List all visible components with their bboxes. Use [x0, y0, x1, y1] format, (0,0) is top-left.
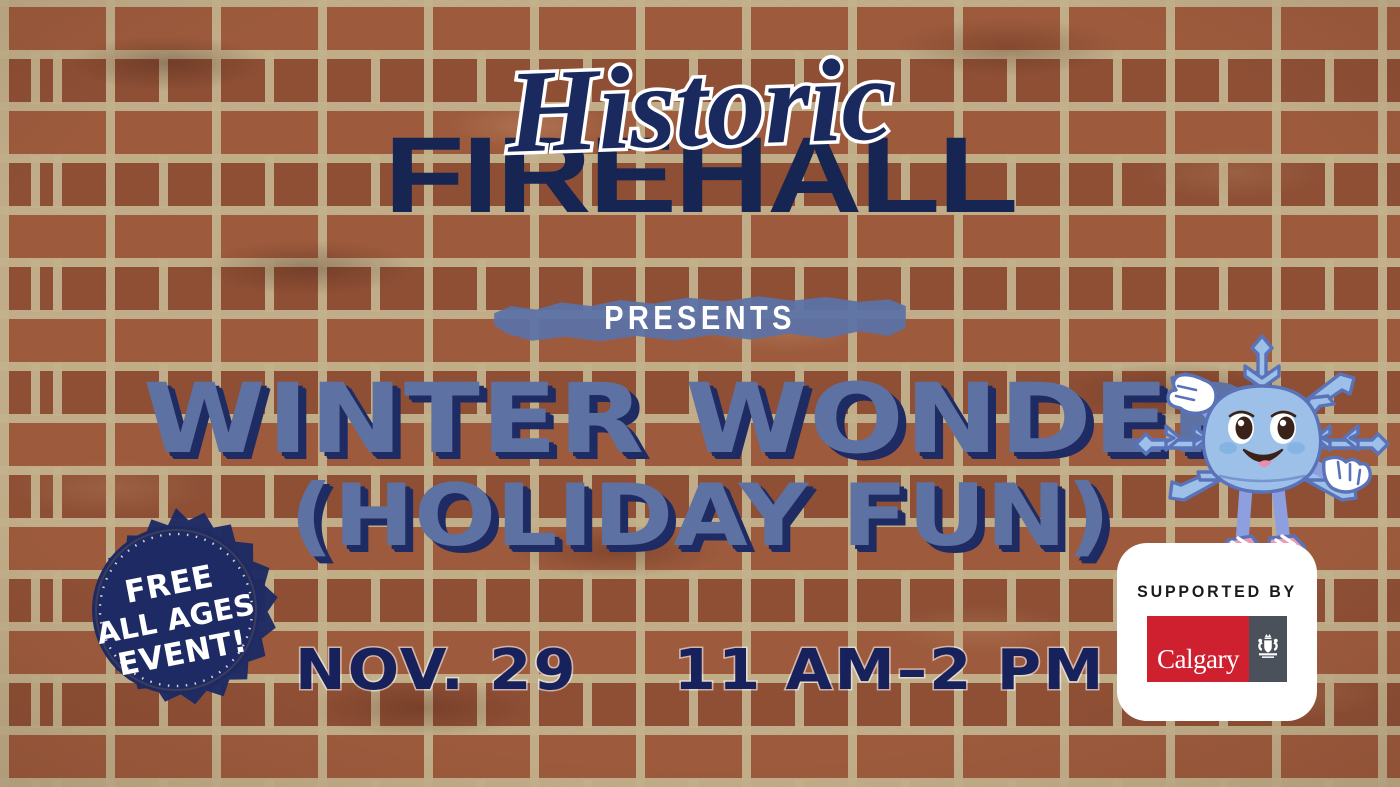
calgary-crest-icon: [1253, 629, 1283, 669]
calgary-crest-block: [1249, 616, 1287, 682]
sponsor-card: SUPPORTED BY Calgary: [1117, 543, 1317, 721]
logo-script-historic: Historic: [506, 45, 895, 167]
badge-seal-shape: [62, 506, 290, 734]
venue-logo: Historic FIREHALL: [0, 52, 1400, 219]
event-date: NOV. 29: [295, 638, 578, 703]
presents-banner: PRESENTS: [490, 288, 910, 348]
event-time: 11 AM–2 PM: [674, 638, 1106, 703]
city-of-calgary-logo: Calgary: [1147, 616, 1287, 682]
free-all-ages-badge: FREE ALL AGES EVENT!: [62, 506, 290, 734]
supported-by-label: SUPPORTED BY: [1137, 582, 1297, 602]
poster-canvas: Historic FIREHALL PRESENTS WINTER WONDER…: [0, 0, 1400, 787]
calgary-wordmark: Calgary: [1157, 646, 1239, 673]
calgary-wordmark-block: Calgary: [1147, 616, 1249, 682]
presents-label: PRESENTS: [515, 288, 885, 348]
